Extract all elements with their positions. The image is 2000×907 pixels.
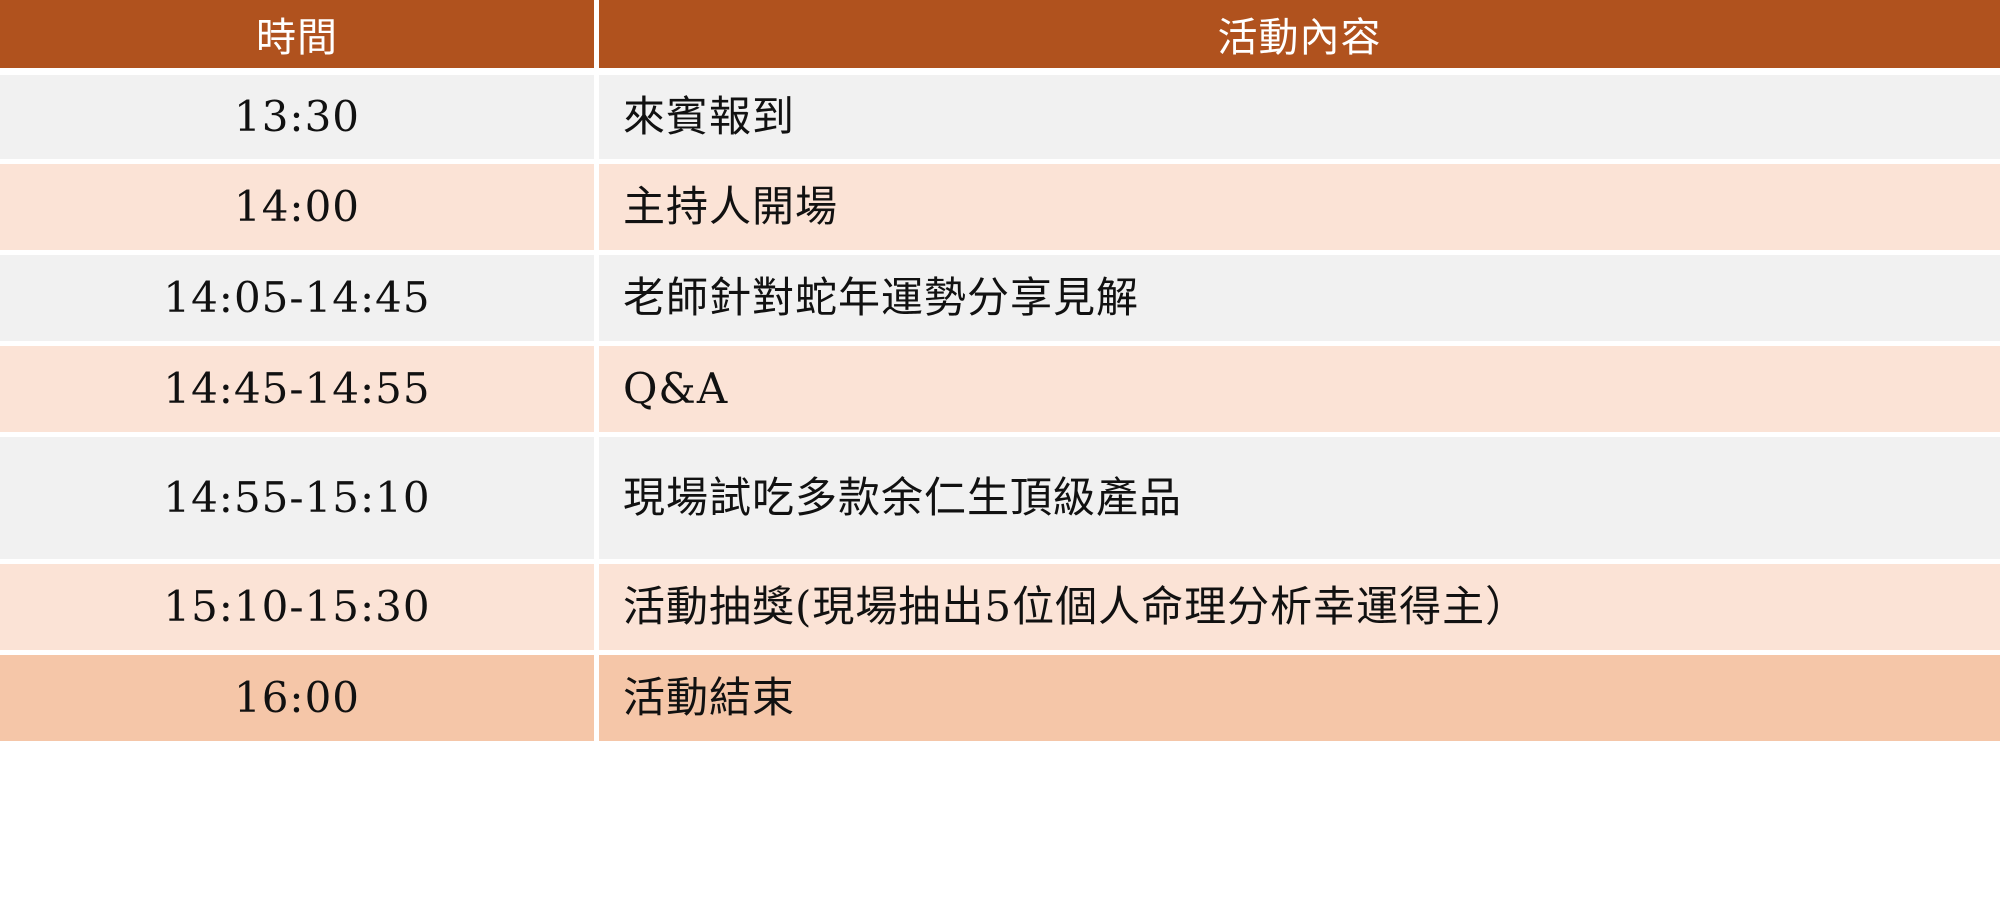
time-value: 13:30 [234, 93, 360, 141]
table-row: 14:55-15:10 現場試吃多款余仁生頂級產品 [0, 437, 2000, 559]
time-value: 14:00 [234, 183, 360, 231]
activity-value: 主持人開場 [623, 183, 838, 231]
cell-time: 16:00 [0, 655, 594, 741]
time-value: 16:00 [234, 674, 360, 722]
cell-activity: 主持人開場 [599, 164, 2000, 250]
column-header-activity-label: 活動內容 [1218, 5, 1382, 63]
cell-activity: 活動抽獎(現場抽出5位個人命理分析幸運得主） [599, 564, 2000, 650]
cell-activity: 來賓報到 [599, 75, 2000, 159]
cell-activity: Q&A [599, 346, 2000, 432]
column-header-time: 時間 [0, 0, 594, 68]
table-row: 14:05-14:45 老師針對蛇年運勢分享見解 [0, 255, 2000, 341]
cell-time: 14:45-14:55 [0, 346, 594, 432]
time-value: 14:05-14:45 [163, 274, 430, 322]
activity-value: 活動結束 [623, 674, 795, 722]
column-header-time-label: 時間 [256, 5, 338, 63]
table-row: 14:45-14:55 Q&A [0, 346, 2000, 432]
cell-activity: 活動結束 [599, 655, 2000, 741]
table-row: 16:00 活動結束 [0, 655, 2000, 741]
cell-activity: 現場試吃多款余仁生頂級產品 [599, 437, 2000, 559]
activity-value: 來賓報到 [623, 93, 795, 141]
table-row: 15:10-15:30 活動抽獎(現場抽出5位個人命理分析幸運得主） [0, 564, 2000, 650]
cell-time: 13:30 [0, 75, 594, 159]
time-value: 15:10-15:30 [163, 583, 430, 631]
cell-time: 14:55-15:10 [0, 437, 594, 559]
table-row: 13:30 來賓報到 [0, 75, 2000, 159]
cell-activity: 老師針對蛇年運勢分享見解 [599, 255, 2000, 341]
table-row: 14:00 主持人開場 [0, 164, 2000, 250]
activity-value: 活動抽獎(現場抽出5位個人命理分析幸運得主） [623, 583, 1528, 631]
time-value: 14:45-14:55 [163, 365, 430, 413]
cell-time: 14:05-14:45 [0, 255, 594, 341]
time-value: 14:55-15:10 [163, 474, 430, 522]
activity-value: 老師針對蛇年運勢分享見解 [623, 274, 1139, 322]
column-header-activity: 活動內容 [599, 0, 2000, 68]
cell-time: 15:10-15:30 [0, 564, 594, 650]
cell-time: 14:00 [0, 164, 594, 250]
activity-value: Q&A [623, 365, 728, 413]
schedule-table: 時間 活動內容 13:30 來賓報到 14:00 主持人開場 14:05-14:… [0, 0, 2000, 907]
activity-value: 現場試吃多款余仁生頂級產品 [623, 474, 1182, 522]
table-header-row: 時間 活動內容 [0, 0, 2000, 70]
